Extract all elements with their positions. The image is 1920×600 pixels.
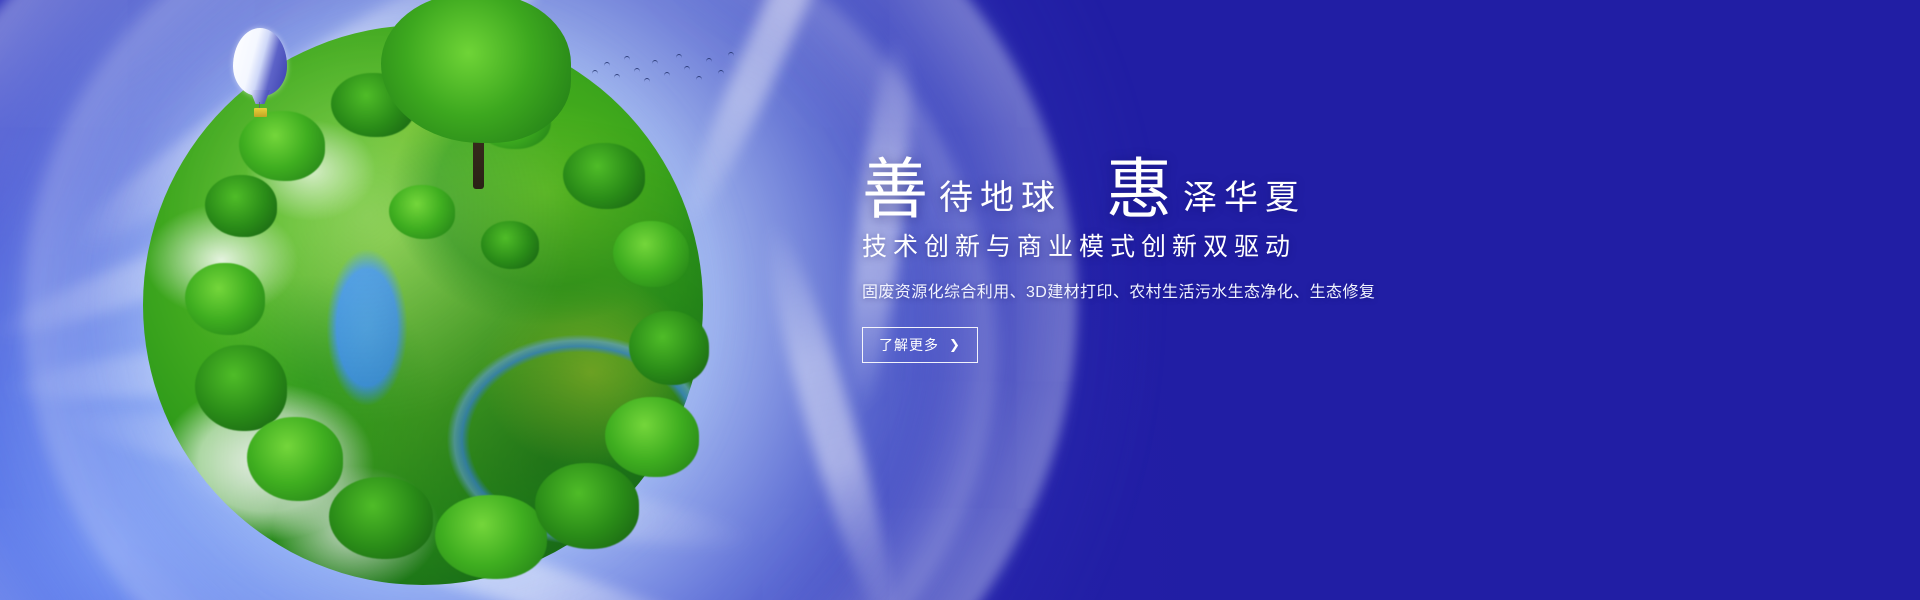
- headline-char-1: 善: [862, 158, 929, 224]
- balloon-basket: [254, 108, 267, 117]
- bird-icon: [684, 66, 690, 70]
- forest-tuft: [247, 417, 343, 501]
- forest-tuft: [329, 477, 433, 559]
- headline-rest-2: 泽华夏: [1173, 182, 1306, 216]
- headline: 善 待地球 惠 泽华夏: [862, 130, 1482, 222]
- bird-flock: [590, 48, 740, 92]
- forest-tuft: [535, 463, 639, 549]
- bird-icon: [624, 56, 630, 60]
- balloon-envelope: [233, 28, 287, 96]
- headline-rest-1: 待地球: [929, 182, 1062, 216]
- bird-icon: [706, 58, 712, 62]
- bird-icon: [644, 78, 650, 82]
- bird-icon: [634, 68, 640, 72]
- learn-more-label: 了解更多: [879, 335, 939, 355]
- bird-icon: [652, 60, 658, 64]
- bird-icon: [676, 54, 682, 58]
- headline-char-2: 惠: [1106, 158, 1173, 224]
- forest-tuft: [205, 175, 277, 237]
- forest-tuft: [613, 221, 689, 287]
- forest-tuft: [629, 311, 709, 385]
- chevron-right-icon: ❯: [949, 338, 961, 351]
- forest-tuft: [389, 185, 455, 239]
- forest-tuft: [605, 397, 699, 477]
- forest-tuft: [563, 143, 645, 209]
- bird-icon: [592, 70, 598, 74]
- hero-banner: 善 待地球 惠 泽华夏 技术创新与商业模式创新双驱动 固废资源化综合利用、3D建…: [0, 0, 1920, 600]
- bird-icon: [696, 76, 702, 80]
- planet-illustration: [143, 25, 703, 585]
- forest-tuft: [185, 263, 265, 335]
- learn-more-button[interactable]: 了解更多 ❯: [862, 327, 978, 363]
- bird-icon: [718, 70, 724, 74]
- bird-icon: [664, 72, 670, 76]
- hot-air-balloon-icon: [233, 28, 287, 124]
- subtitle: 技术创新与商业模式创新双驱动: [862, 232, 1482, 263]
- forest-tuft: [435, 495, 547, 579]
- bird-icon: [604, 62, 610, 66]
- bird-icon: [728, 52, 734, 56]
- description: 固废资源化综合利用、3D建材打印、农村生活污水生态净化、生态修复: [862, 281, 1482, 305]
- balloon-skirt: [250, 90, 270, 104]
- forest-tuft: [195, 345, 287, 431]
- forest-tuft: [481, 221, 539, 269]
- hero-copy: 善 待地球 惠 泽华夏 技术创新与商业模式创新双驱动 固废资源化综合利用、3D建…: [862, 130, 1482, 363]
- bird-icon: [614, 74, 620, 78]
